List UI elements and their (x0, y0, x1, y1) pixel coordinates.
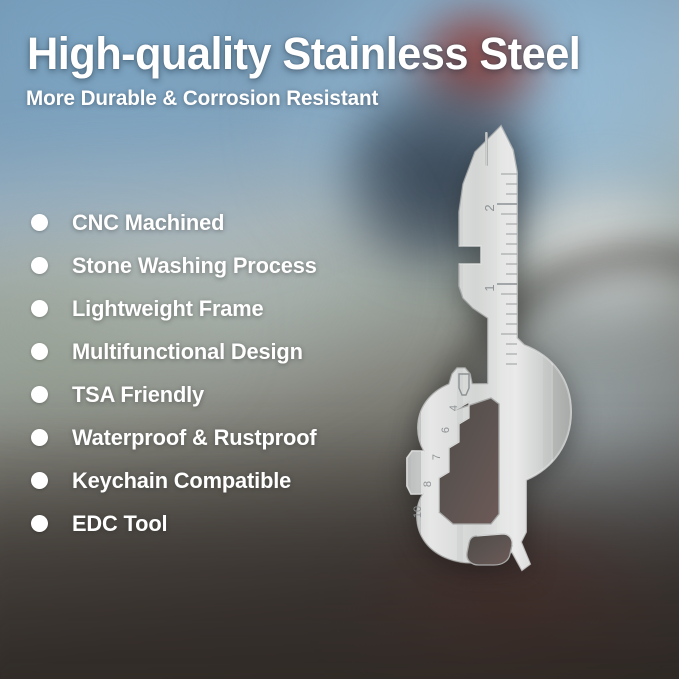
bullet-dot-icon (31, 472, 48, 489)
feature-label: CNC Machined (72, 210, 224, 236)
feature-label: Lightweight Frame (72, 296, 264, 322)
list-item: TSA Friendly (30, 373, 400, 416)
bullet-dot-icon (31, 429, 48, 446)
page-subtitle: More Durable & Corrosion Resistant (26, 86, 378, 111)
feature-label: Stone Washing Process (72, 253, 317, 279)
bullet-dot-icon (31, 515, 48, 532)
bullet-dot-icon (31, 343, 48, 360)
product-multi-tool: 2 1 4 6 7 8 10 (393, 112, 593, 612)
hex-size-7: 7 (431, 454, 443, 460)
list-item: Waterproof & Rustproof (30, 416, 400, 459)
feature-label: TSA Friendly (72, 382, 204, 408)
screwdriver-tip-slot (485, 132, 488, 166)
ruler-label-2: 2 (482, 204, 497, 211)
list-item: CNC Machined (30, 201, 400, 244)
list-item: Stone Washing Process (30, 244, 400, 287)
feature-list: CNC Machined Stone Washing Process Light… (30, 201, 400, 545)
list-item: Lightweight Frame (30, 287, 400, 330)
bullet-dot-icon (31, 214, 48, 231)
feature-label: Waterproof & Rustproof (72, 425, 317, 451)
hex-size-4: 4 (448, 405, 460, 411)
bullet-dot-icon (31, 300, 48, 317)
bullet-dot-icon (31, 386, 48, 403)
feature-label: Multifunctional Design (72, 339, 303, 365)
product-feature-image: High-quality Stainless Steel More Durabl… (0, 0, 679, 679)
hex-size-10: 10 (412, 506, 424, 518)
list-item: Keychain Compatible (30, 459, 400, 502)
hex-size-6: 6 (440, 427, 452, 433)
ruler-label-1: 1 (482, 284, 497, 291)
keychain-hole (467, 534, 512, 565)
page-title: High-quality Stainless Steel (27, 28, 580, 80)
bottle-opener-notch (459, 246, 481, 264)
feature-label: Keychain Compatible (72, 468, 291, 494)
list-item: EDC Tool (30, 502, 400, 545)
list-item: Multifunctional Design (30, 330, 400, 373)
hex-size-8: 8 (422, 481, 434, 487)
feature-label: EDC Tool (72, 511, 167, 537)
bullet-dot-icon (31, 257, 48, 274)
